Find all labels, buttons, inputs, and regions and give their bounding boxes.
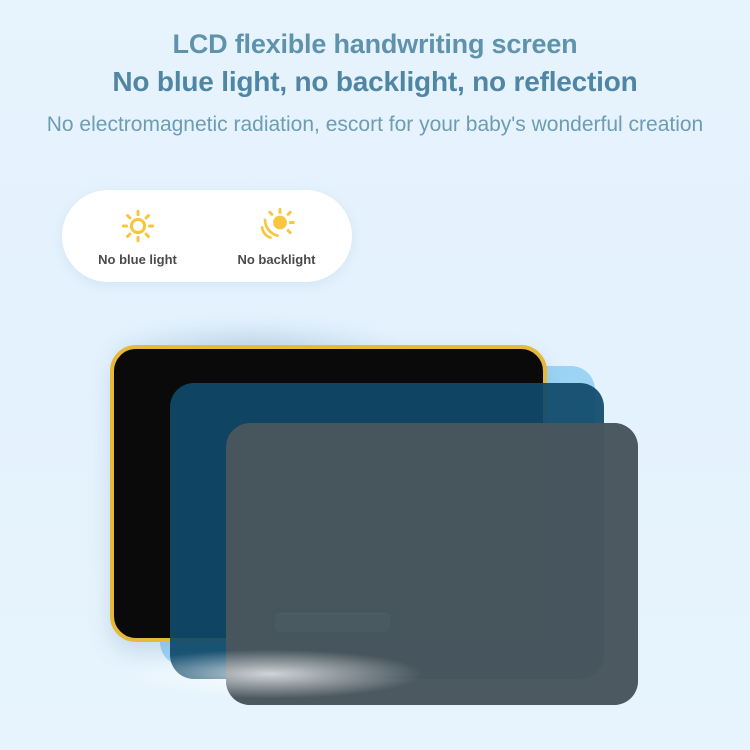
feature-no-backlight: No backlight	[211, 206, 343, 267]
feature-badge-pill: No blue light	[62, 190, 352, 282]
feature-no-blue-light: No blue light	[72, 206, 204, 267]
sun-outline-icon	[121, 206, 155, 246]
page-title: LCD flexible handwriting screen	[0, 26, 750, 63]
product-banner: LCD flexible handwriting screen No blue …	[0, 0, 750, 750]
page-subtitle-bold: No blue light, no backlight, no reflecti…	[0, 63, 750, 101]
feature-label: No backlight	[237, 252, 315, 267]
feature-label: No blue light	[98, 252, 177, 267]
ground-glow	[120, 650, 420, 698]
header-copy-block: LCD flexible handwriting screen No blue …	[0, 0, 750, 140]
page-description: No electromagnetic radiation, escort for…	[0, 110, 750, 140]
sun-filled-rays-icon	[259, 206, 295, 246]
